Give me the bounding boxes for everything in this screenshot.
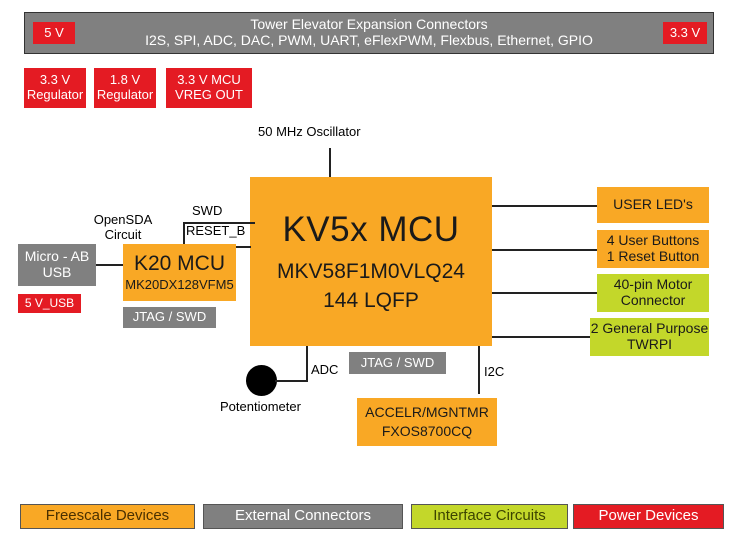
motor-connector-line1: 40-pin Motor xyxy=(614,277,693,293)
mcu-to-buttons-line xyxy=(492,249,597,251)
regulator-1v8: 1.8 V Regulator xyxy=(94,68,156,108)
user-leds-block: USER LED's xyxy=(597,187,709,223)
legend-interface-label: Interface Circuits xyxy=(433,508,546,525)
oscillator-connector-line xyxy=(329,148,331,178)
swd-label: SWD xyxy=(192,204,222,219)
banner-subtitle: I2S, SPI, ADC, DAC, PWM, UART, eFlexPWM,… xyxy=(145,33,593,49)
potentiometer-to-adc-line xyxy=(275,380,308,382)
opensda-label: OpenSDA Circuit xyxy=(81,213,165,243)
opensda-line1: OpenSDA xyxy=(81,213,165,228)
banner-badge-3v3-label: 3.3 V xyxy=(670,26,700,41)
kv5x-mcu-block: KV5x MCU MKV58F1M0VLQ24 144 LQFP xyxy=(250,177,492,346)
kv5x-mcu-package: 144 LQFP xyxy=(323,289,419,313)
mcu-jtag-swd-header: JTAG / SWD xyxy=(349,352,446,374)
regulator-1v8-line1: 1.8 V xyxy=(110,73,140,88)
motor-connector-line2: Connector xyxy=(621,293,686,309)
banner-badge-5v-label: 5 V xyxy=(44,26,64,41)
user-buttons-line1: 4 User Buttons xyxy=(607,233,700,249)
micro-ab-usb-connector: Micro - AB USB xyxy=(18,244,96,286)
user-buttons-line2: 1 Reset Button xyxy=(607,249,700,265)
usb-power-label: 5 V_USB xyxy=(25,297,74,310)
adc-to-mcu-line xyxy=(306,346,308,382)
k20-mcu-part: MK20DX128VFM5 xyxy=(125,278,233,293)
usb-to-k20-line xyxy=(96,264,123,266)
potentiometer-symbol xyxy=(246,365,277,396)
accelerometer-magnetometer-block: ACCELR/MGNTMR FXOS8700CQ xyxy=(357,398,497,446)
user-buttons-block: 4 User Buttons 1 Reset Button xyxy=(597,230,709,268)
regulator-mcu-vreg-out: 3.3 V MCU VREG OUT xyxy=(166,68,252,108)
usb-line1: Micro - AB xyxy=(25,249,90,265)
oscillator-label: 50 MHz Oscillator xyxy=(258,125,361,140)
i2c-bus-label: I2C xyxy=(484,365,504,380)
accelerometer-line2: FXOS8700CQ xyxy=(382,424,472,440)
adc-bus-label: ADC xyxy=(311,363,338,378)
k20-jtag-swd-header: JTAG / SWD xyxy=(123,307,216,328)
mcu-to-motor-connector-line xyxy=(492,292,597,294)
mcu-jtag-swd-label: JTAG / SWD xyxy=(361,356,434,371)
legend-external-label: External Connectors xyxy=(235,508,371,525)
opensda-line2: Circuit xyxy=(81,228,165,243)
tower-elevator-banner: Tower Elevator Expansion Connectors I2S,… xyxy=(24,12,714,54)
i2c-connector-line xyxy=(478,346,480,394)
banner-title: Tower Elevator Expansion Connectors xyxy=(250,17,487,33)
mcu-to-user-leds-line xyxy=(492,205,597,207)
regulator-3v3: 3.3 V Regulator xyxy=(24,68,86,108)
kv5x-mcu-part: MKV58F1M0VLQ24 xyxy=(277,260,465,284)
twrpi-line2: TWRPI xyxy=(627,337,672,353)
legend-item-power-devices: Power Devices xyxy=(573,504,724,529)
legend-item-external-connectors: External Connectors xyxy=(203,504,403,529)
user-leds-line1: USER LED's xyxy=(613,197,693,213)
legend-freescale-label: Freescale Devices xyxy=(46,508,169,525)
motor-connector-block: 40-pin Motor Connector xyxy=(597,274,709,312)
twrpi-line1: 2 General Purpose xyxy=(591,321,709,337)
potentiometer-label: Potentiometer xyxy=(220,400,301,415)
mcu-to-twrpi-line xyxy=(492,336,597,338)
regulator-vreg-line1: 3.3 V MCU xyxy=(177,73,241,88)
legend-power-label: Power Devices xyxy=(598,508,698,525)
banner-badge-3v3: 3.3 V xyxy=(663,22,707,44)
regulator-3v3-line1: 3.3 V xyxy=(40,73,70,88)
usb-power-badge: 5 V_USB xyxy=(18,294,81,313)
regulator-3v3-line2: Regulator xyxy=(27,88,83,103)
k20-mcu-block: K20 MCU MK20DX128VFM5 xyxy=(123,244,236,301)
usb-line2: USB xyxy=(43,265,72,281)
k20-jtag-swd-label: JTAG / SWD xyxy=(133,310,206,325)
kv5x-mcu-name: KV5x MCU xyxy=(282,210,459,249)
regulator-vreg-line2: VREG OUT xyxy=(175,88,243,103)
twrpi-block: 2 General Purpose TWRPI xyxy=(590,318,709,356)
banner-badge-5v: 5 V xyxy=(33,22,75,44)
accelerometer-line1: ACCELR/MGNTMR xyxy=(365,405,489,421)
legend-item-interface-circuits: Interface Circuits xyxy=(411,504,568,529)
legend-item-freescale-devices: Freescale Devices xyxy=(20,504,195,529)
k20-mcu-name: K20 MCU xyxy=(134,252,225,276)
regulator-1v8-line2: Regulator xyxy=(97,88,153,103)
reset-b-label: RESET_B xyxy=(186,224,245,239)
block-diagram-canvas: Tower Elevator Expansion Connectors I2S,… xyxy=(0,0,743,552)
